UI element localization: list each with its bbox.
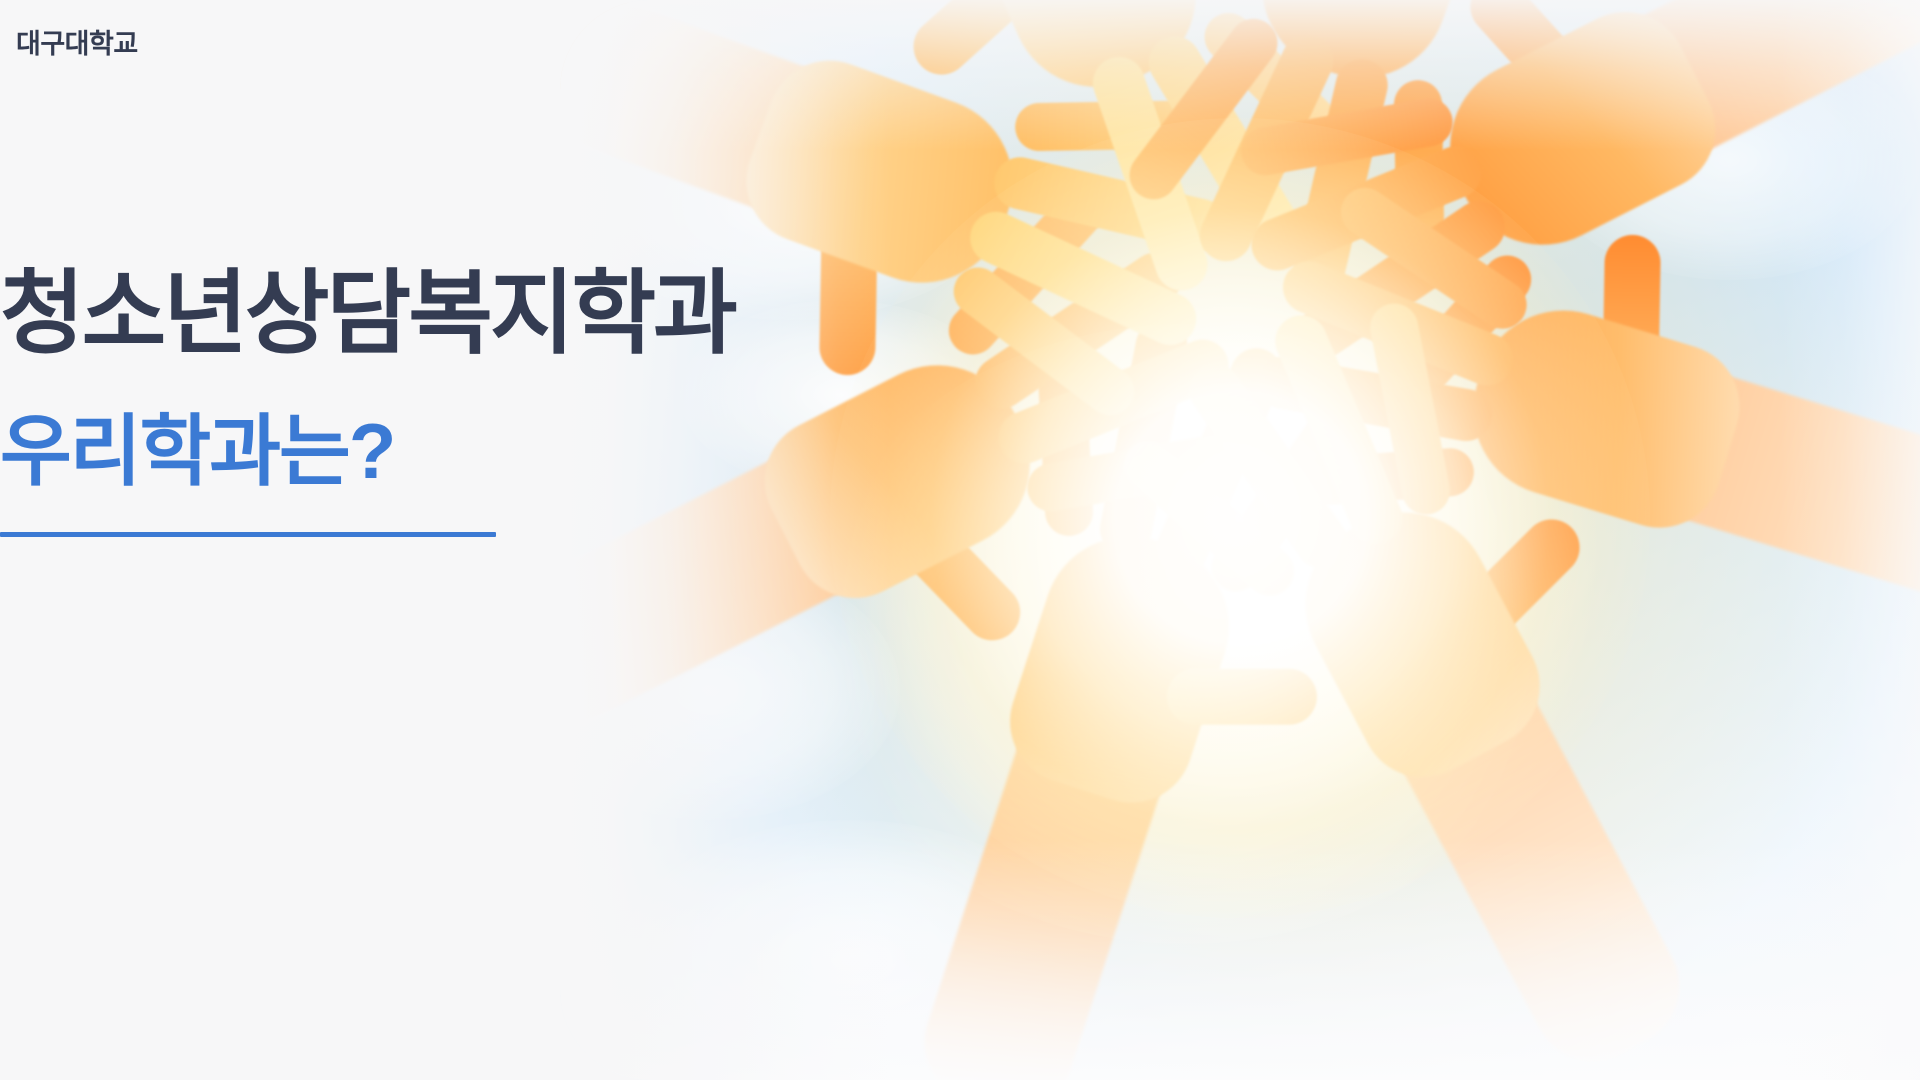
department-title: 청소년상담복지학과 bbox=[0, 268, 735, 360]
hands-circle-group bbox=[620, 0, 1860, 1080]
subtitle-underline-rule bbox=[0, 532, 496, 537]
slide-root: 대구대학교 청소년상담복지학과 우리학과는? bbox=[0, 0, 1920, 1080]
headline-block: 청소년상담복지학과 우리학과는? bbox=[0, 268, 735, 537]
photo-sky-background bbox=[560, 0, 1920, 1080]
section-subtitle: 우리학과는? bbox=[0, 412, 735, 490]
university-logo-text: 대구대학교 bbox=[16, 22, 138, 61]
hero-photo-panel bbox=[560, 0, 1920, 1080]
